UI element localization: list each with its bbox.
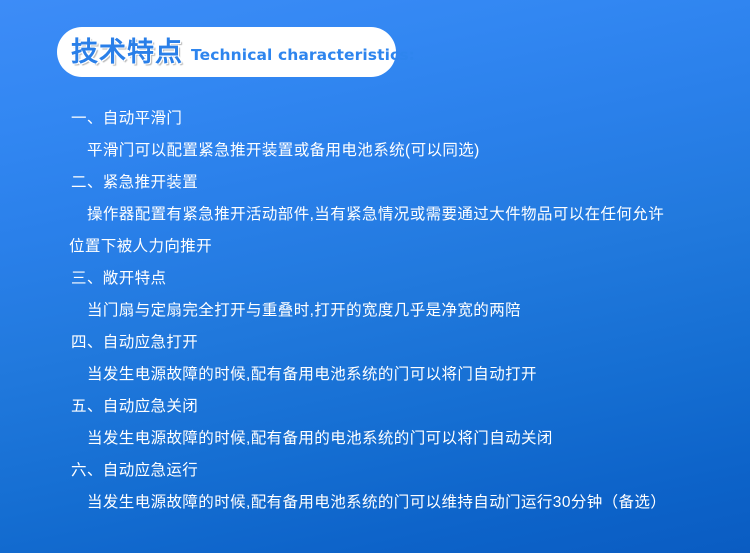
page-title-chinese: 技术特点 [71,39,183,66]
page-title-english: Technical characteristics: [191,46,415,64]
feature-detail: 平滑门可以配置紧急推开装置或备用电池系统(可以同选) [0,135,750,167]
feature-item-1: 一、自动平滑门 平滑门可以配置紧急推开装置或备用电池系统(可以同选) [0,103,750,167]
feature-detail: 当发生电源故障的时候,配有备用的电池系统的门可以将门自动关闭 [0,423,750,455]
feature-detail-continued: 位置下被人力向推开 [0,231,750,263]
feature-item-2: 二、紧急推开装置 操作器配置有紧急推开活动部件,当有紧急情况或需要通过大件物品可… [0,167,750,263]
feature-item-4: 四、自动应急打开 当发生电源故障的时候,配有备用电池系统的门可以将门自动打开 [0,327,750,391]
technical-characteristics-panel: 技术特点 Technical characteristics: 一、自动平滑门 … [0,0,750,553]
feature-detail: 当门扇与定扇完全打开与重叠时,打开的宽度几乎是净宽的两陪 [0,295,750,327]
feature-detail: 当发生电源故障的时候,配有备用电池系统的门可以维持自动门运行30分钟（备选） [0,487,750,519]
feature-item-6: 六、自动应急运行 当发生电源故障的时候,配有备用电池系统的门可以维持自动门运行3… [0,455,750,519]
feature-item-5: 五、自动应急关闭 当发生电源故障的时候,配有备用的电池系统的门可以将门自动关闭 [0,391,750,455]
feature-heading: 一、自动平滑门 [0,103,750,135]
feature-heading: 二、紧急推开装置 [0,167,750,199]
feature-heading: 五、自动应急关闭 [0,391,750,423]
feature-heading: 四、自动应急打开 [0,327,750,359]
feature-detail: 操作器配置有紧急推开活动部件,当有紧急情况或需要通过大件物品可以在任何允许 [0,199,750,231]
feature-heading: 六、自动应急运行 [0,455,750,487]
feature-heading: 三、敞开特点 [0,263,750,295]
feature-list: 一、自动平滑门 平滑门可以配置紧急推开装置或备用电池系统(可以同选) 二、紧急推… [0,103,750,519]
title-badge: 技术特点 Technical characteristics: [57,27,396,77]
feature-item-3: 三、敞开特点 当门扇与定扇完全打开与重叠时,打开的宽度几乎是净宽的两陪 [0,263,750,327]
feature-detail: 当发生电源故障的时候,配有备用电池系统的门可以将门自动打开 [0,359,750,391]
